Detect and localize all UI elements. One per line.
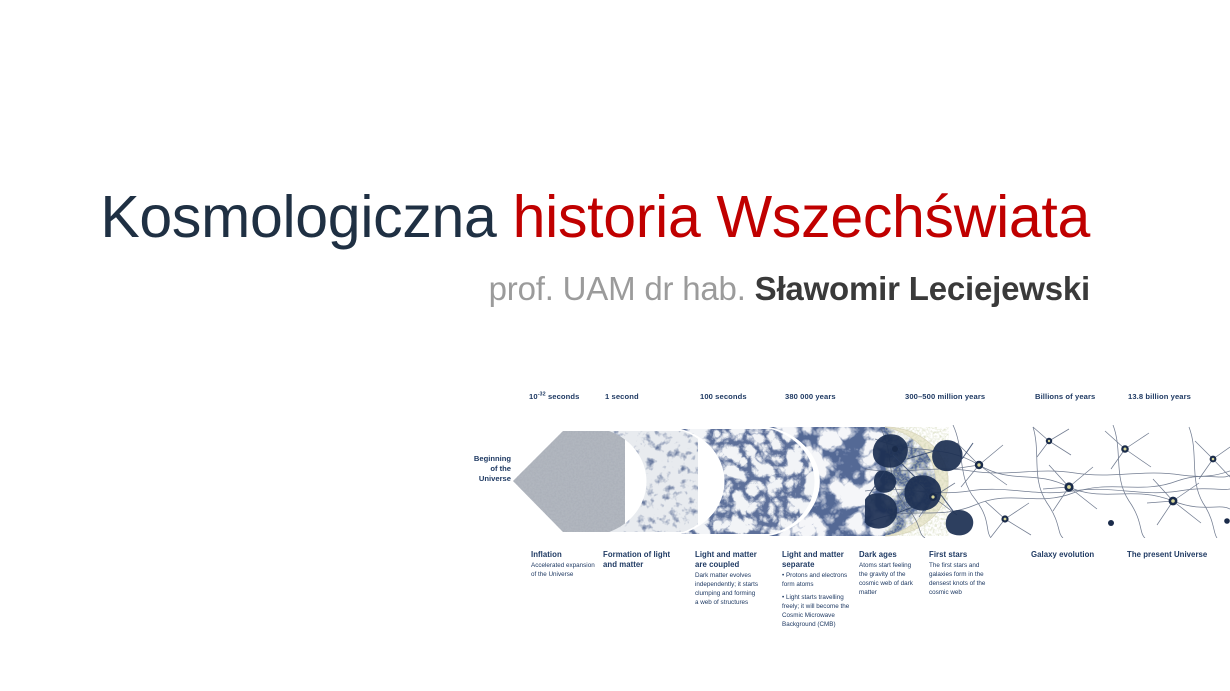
timeline-illustration	[513, 425, 1230, 538]
era-label: 13.8 billion years	[1128, 392, 1191, 401]
caption-body: Accelerated expansion of the Universe	[531, 562, 597, 580]
title-area: Kosmologiczna historia Wszechświata prof…	[0, 186, 1090, 307]
title-segment-primary: Kosmologiczna	[100, 184, 512, 250]
era-label: Billions of years	[1035, 392, 1095, 401]
slide-subtitle: prof. UAM dr hab. Sławomir Leciejewski	[0, 271, 1090, 307]
timeline-caption: First starsThe first stars and galaxies …	[929, 550, 989, 598]
caption-title: Galaxy evolution	[1031, 550, 1121, 560]
timeline-caption: Formation of light and matter	[603, 550, 673, 572]
timeline-caption: The present Universe	[1127, 550, 1227, 562]
era-label: 10-32 seconds	[529, 392, 579, 401]
era-label: 380 000 years	[785, 392, 836, 401]
caption-row: InflationAccelerated expansion of the Un…	[455, 550, 1230, 655]
beginning-label-line: Beginning	[455, 454, 511, 464]
caption-body: • Protons and electrons form atoms• Ligh…	[782, 572, 852, 630]
caption-paragraph: • Light starts travelling freely; it wil…	[782, 594, 852, 630]
caption-title: Light and matter separate	[782, 550, 852, 570]
caption-title: The present Universe	[1127, 550, 1227, 560]
caption-body: Atoms start feeling the gravity of the c…	[859, 562, 917, 598]
title-segment-accent: historia Wszechświata	[513, 184, 1090, 250]
caption-paragraph: Accelerated expansion of the Universe	[531, 562, 597, 580]
timeline-caption: Light and matter separate• Protons and e…	[782, 550, 852, 630]
cosmology-timeline-figure: 10-32 seconds1 second100 seconds380 000 …	[455, 392, 1230, 657]
page-title: Kosmologiczna historia Wszechświata	[0, 186, 1090, 249]
timeline-caption: Galaxy evolution	[1031, 550, 1121, 562]
subtitle-author-name: Sławomir Leciejewski	[755, 270, 1090, 307]
timeline-caption: Dark agesAtoms start feeling the gravity…	[859, 550, 917, 598]
era-label: 300–500 million years	[905, 392, 985, 401]
caption-title: Dark ages	[859, 550, 917, 560]
caption-paragraph: The first stars and galaxies form in the…	[929, 562, 989, 598]
caption-title: First stars	[929, 550, 989, 560]
era-label: 100 seconds	[700, 392, 747, 401]
beginning-label-line: Universe	[455, 474, 511, 484]
caption-paragraph: • Protons and electrons form atoms	[782, 572, 852, 590]
beginning-of-universe-label: Beginningof theUniverse	[455, 454, 511, 484]
caption-title: Formation of light and matter	[603, 550, 673, 570]
caption-body: Dark matter evolves independently; it st…	[695, 572, 759, 608]
era-label: 1 second	[605, 392, 639, 401]
caption-title: Inflation	[531, 550, 597, 560]
timeline-caption: InflationAccelerated expansion of the Un…	[531, 550, 597, 580]
caption-body: The first stars and galaxies form in the…	[929, 562, 989, 598]
era-label-row: 10-32 seconds1 second100 seconds380 000 …	[455, 392, 1230, 414]
subtitle-affiliation: prof. UAM dr hab.	[489, 270, 755, 307]
caption-paragraph: Atoms start feeling the gravity of the c…	[859, 562, 917, 598]
timeline-caption: Light and matter are coupledDark matter …	[695, 550, 759, 608]
caption-title: Light and matter are coupled	[695, 550, 759, 570]
caption-paragraph: Dark matter evolves independently; it st…	[695, 572, 759, 608]
beginning-label-line: of the	[455, 464, 511, 474]
